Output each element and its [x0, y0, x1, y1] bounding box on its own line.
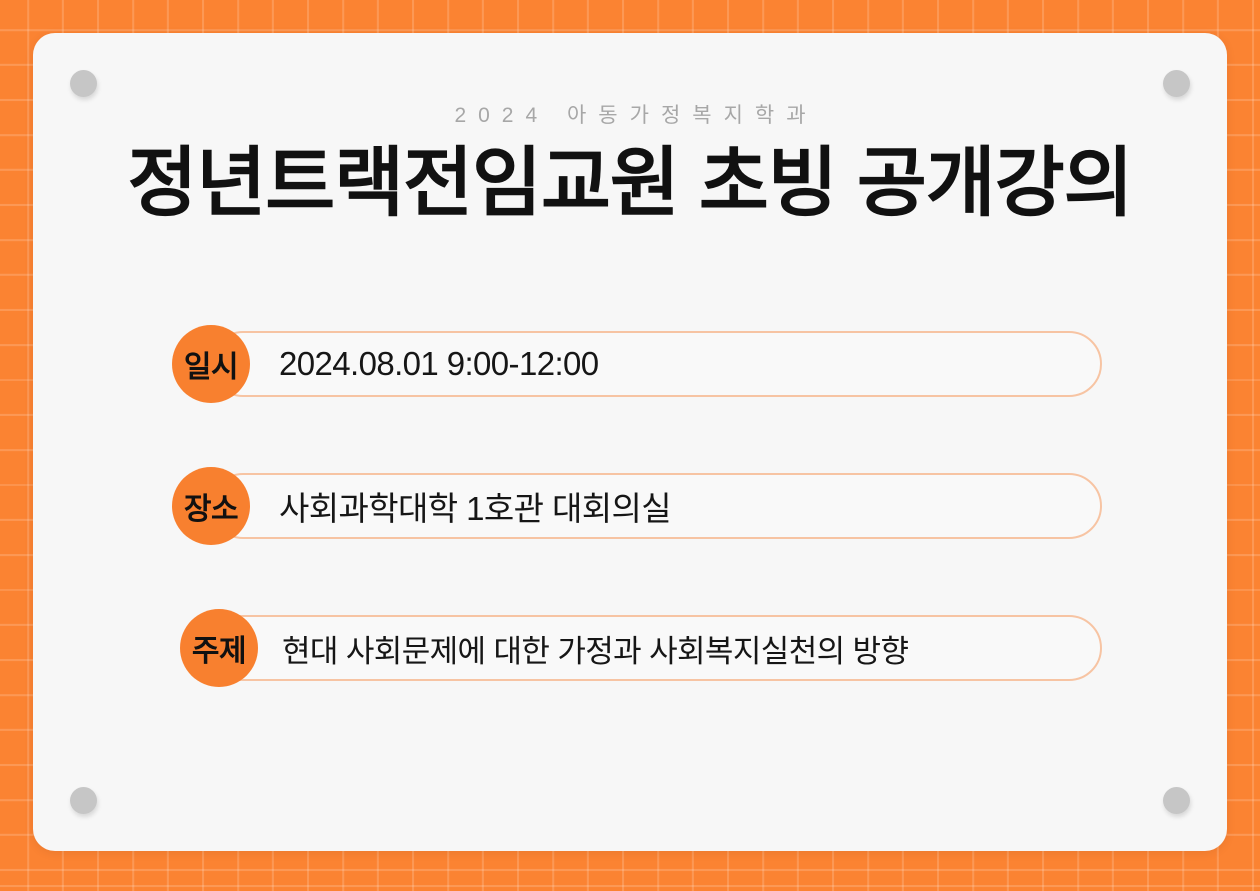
info-row-location: 장소 사회과학대학 1호관 대회의실 — [172, 467, 1102, 545]
corner-dot-top-right — [1163, 70, 1190, 97]
info-list: 일시 2024.08.01 9:00-12:00 장소 사회과학대학 1호관 대… — [172, 325, 1102, 687]
info-value-location: 사회과학대학 1호관 대회의실 — [279, 482, 671, 530]
corner-dot-bottom-left — [70, 787, 97, 814]
info-label-datetime: 일시 — [172, 325, 250, 403]
info-value-topic: 현대 사회문제에 대한 가정과 사회복지실천의 방향 — [282, 626, 908, 671]
info-label-location: 장소 — [172, 467, 250, 545]
info-label-topic: 주제 — [180, 609, 258, 687]
poster-headline: 정년트랙전임교원 초빙 공개강의 — [33, 136, 1227, 231]
corner-dot-bottom-right — [1163, 787, 1190, 814]
poster-card: 2024 아동가정복지학과 정년트랙전임교원 초빙 공개강의 일시 2024.0… — [33, 33, 1227, 851]
corner-dot-top-left — [70, 70, 97, 97]
info-value-datetime: 2024.08.01 9:00-12:00 — [279, 345, 599, 383]
info-row-topic: 주제 현대 사회문제에 대한 가정과 사회복지실천의 방향 — [172, 609, 1102, 687]
poster-eyebrow: 2024 아동가정복지학과 — [33, 99, 1227, 129]
info-row-datetime: 일시 2024.08.01 9:00-12:00 — [172, 325, 1102, 403]
